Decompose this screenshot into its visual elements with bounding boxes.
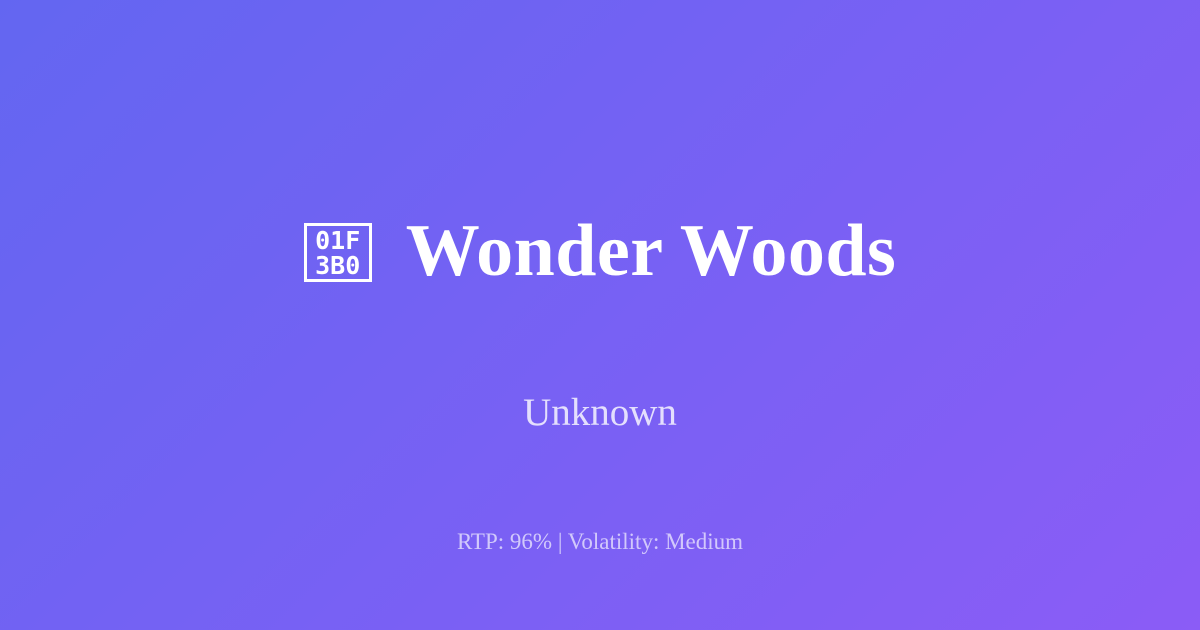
game-meta-line: RTP: 96% | Volatility: Medium xyxy=(0,530,1200,553)
provider-label: Unknown xyxy=(523,393,677,432)
tofu-codepoint-bottom: 3B0 xyxy=(315,253,360,278)
page-title: Wonder Woods xyxy=(406,214,897,288)
game-preview-card: 01F 3B0 Wonder Woods Unknown RTP: 96% | … xyxy=(0,0,1200,630)
tofu-codepoint-top: 01F xyxy=(315,228,360,253)
slot-machine-icon: 01F 3B0 xyxy=(304,223,372,282)
card-hero: 01F 3B0 Wonder Woods xyxy=(304,164,897,337)
